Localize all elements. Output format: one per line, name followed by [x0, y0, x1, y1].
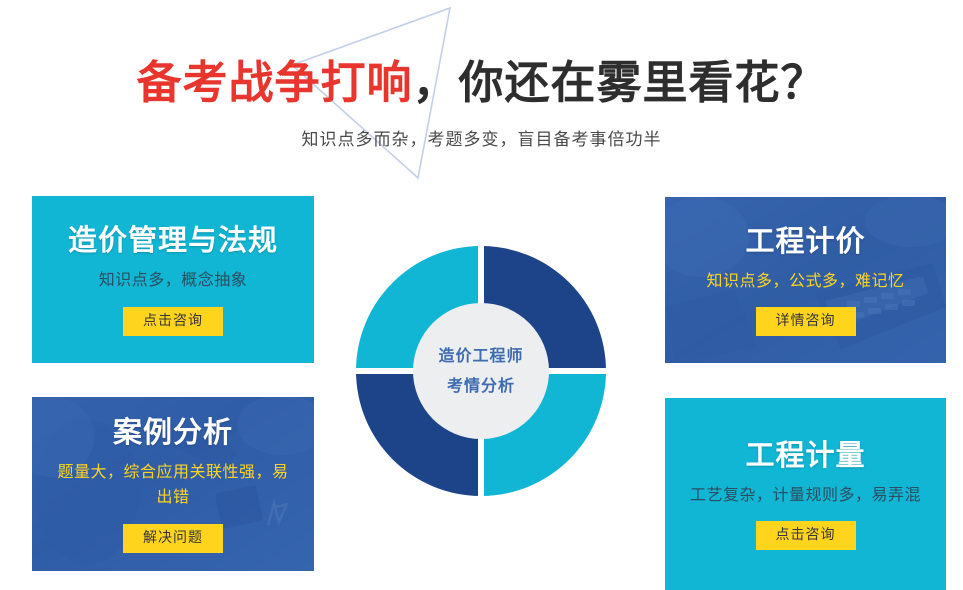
page-root: 备考战争打响，你还在雾里看花？ 知识点多而杂，考题多变，盲目备考事倍功半 造价管… — [0, 0, 963, 590]
card-description: 知识点多，概念抽象 — [99, 268, 248, 293]
card-engineering-measurement[interactable]: 工程计量 工艺复杂，计量规则多，易弄混 点击咨询 — [665, 398, 946, 590]
card-title: 工程计量 — [745, 438, 865, 473]
consult-button[interactable]: 点击咨询 — [123, 307, 223, 336]
card-description: 工艺复杂，计量规则多，易弄混 — [690, 483, 921, 508]
details-consult-button[interactable]: 详情咨询 — [756, 307, 856, 336]
card-title: 案例分析 — [113, 415, 233, 450]
card-description: 题量大，综合应用关联性强，易出错 — [56, 460, 291, 510]
card-case-analysis[interactable]: 案例分析 题量大，综合应用关联性强，易出错 解决问题 — [32, 397, 314, 571]
solve-problem-button[interactable]: 解决问题 — [123, 524, 223, 553]
card-title: 工程计价 — [745, 224, 865, 259]
page-title-highlight: 备考战争打响 — [136, 56, 412, 109]
page-subtitle: 知识点多而杂，考题多变，盲目备考事倍功半 — [0, 125, 963, 150]
circular-arrow-ring-icon — [356, 246, 606, 496]
card-cost-management[interactable]: 造价管理与法规 知识点多，概念抽象 点击咨询 — [32, 196, 314, 363]
card-description: 知识点多，公式多，难记忆 — [706, 269, 904, 294]
consult-button[interactable]: 点击咨询 — [756, 521, 856, 550]
card-title: 造价管理与法规 — [68, 223, 278, 258]
card-engineering-pricing[interactable]: 工程计价 知识点多，公式多，难记忆 详情咨询 — [665, 197, 946, 363]
page-title: 备考战争打响，你还在雾里看花？ — [0, 58, 963, 108]
page-title-rest: ，你还在雾里看花？ — [413, 56, 827, 109]
